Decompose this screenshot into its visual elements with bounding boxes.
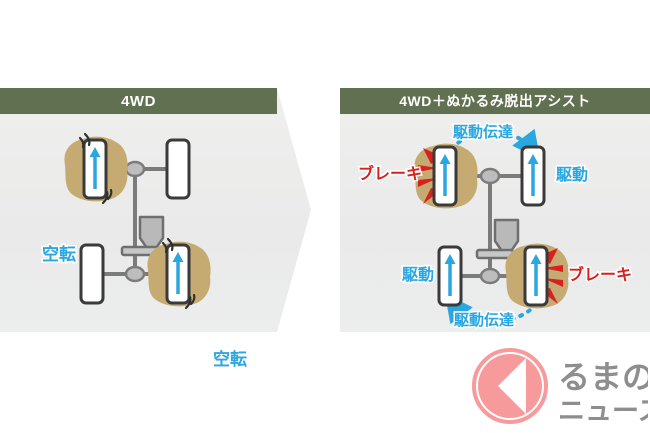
panel-4wd-title: 4WD <box>0 88 277 114</box>
wheel-rear-right <box>147 239 210 308</box>
brand-logo: るまの ニュース <box>470 344 648 428</box>
wheel-front-right <box>167 140 189 198</box>
label-drive-transfer-front: 駆動伝達 <box>453 125 513 140</box>
label-spin-front-left: 空転 <box>42 246 76 263</box>
wheel-front-left <box>64 134 127 203</box>
infographic-canvas: 4WD <box>0 0 650 433</box>
label-brake-front-left: ブレーキ <box>358 167 422 183</box>
logo-chevron-icon <box>474 350 546 422</box>
wheel-front-left <box>414 144 477 209</box>
logo-text-line1: るまの <box>558 358 648 396</box>
wheel-front-right <box>522 147 544 205</box>
wheel-rear-right <box>505 244 568 309</box>
wheel-rear-left <box>439 247 461 305</box>
wheel-rear-left <box>81 245 103 303</box>
label-spin-rear-right: 空転 <box>213 351 247 368</box>
drivetrain-diagram-4wd <box>0 114 311 332</box>
panel-4wd-mud-assist-title: 4WD＋ぬかるみ脱出アシスト <box>340 88 650 114</box>
label-drive-transfer-rear: 駆動伝達 <box>454 313 514 328</box>
panel-4wd-mud-assist: 4WD＋ぬかるみ脱出アシスト <box>340 88 650 332</box>
panel-4wd: 4WD <box>0 88 311 332</box>
label-drive-front-right: 駆動 <box>556 168 588 184</box>
logo-text-line2: ニュース <box>558 396 648 427</box>
drivetrain-diagram-assist <box>340 114 650 332</box>
label-drive-rear-left: 駆動 <box>402 268 434 284</box>
label-brake-rear-right: ブレーキ <box>568 268 632 284</box>
